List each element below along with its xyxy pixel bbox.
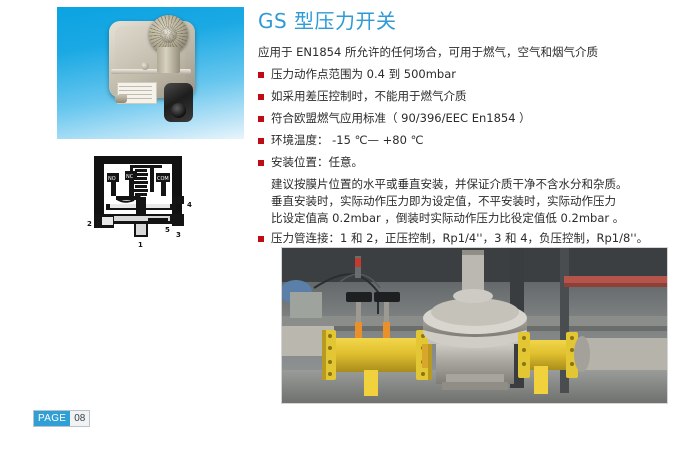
list-item: 安装位置：任意。 [258, 154, 699, 171]
page-badge-word: PAGE [34, 411, 70, 426]
electrical-connector-plug [164, 83, 193, 122]
diagram-callout-2: 2 [87, 220, 92, 228]
bullet-square-icon [258, 138, 264, 144]
list-item: 环境温度： -15 ℃— +80 ℃ [258, 132, 699, 149]
gs-pressure-switch-product-photo [57, 7, 244, 139]
list-item: 符合欧盟燃气应用标准（ 90/396/EEC En1854 ） [258, 110, 699, 127]
diagram-callout-3: 3 [176, 231, 181, 239]
mounting-note-line-1: 建议按膜片位置的水平或垂直安装，并保证介质干净不含水分和杂质。 [271, 176, 699, 193]
bullet-square-icon [258, 236, 264, 242]
list-item-label: 压力管连接：1 和 2，正压控制，Rp1/4''，3 和 4，负压控制，Rp1/… [271, 230, 648, 247]
bullet-square-icon [258, 94, 264, 100]
diagram-callout-1: 1 [138, 241, 143, 248]
terminal-label-com: COM [157, 176, 169, 182]
mounting-note-line-2: 垂直安装时，实际动作压力即为设定值，不平安装时，实际动作压力 [271, 193, 699, 210]
bullet-square-icon [258, 116, 264, 122]
list-item: 压力动作点范围为 0.4 到 500mbar [258, 66, 699, 83]
terminal-label-no: NO [108, 176, 116, 182]
gas-pipeline-installation-photo [281, 247, 668, 404]
pressure-switch-cross-section-diagram: NO NC COM [86, 152, 198, 248]
list-item-label: 如采用差压控制时，不能用于燃气介质 [271, 88, 467, 105]
diagram-callout-4: 4 [187, 201, 192, 209]
page-badge-number: 08 [70, 411, 89, 426]
left-column: NO NC COM [0, 0, 252, 455]
list-item: 如采用差压控制时，不能用于燃气介质 [258, 88, 699, 105]
feature-bullet-list: 压力动作点范围为 0.4 到 500mbar 如采用差压控制时，不能用于燃气介质… [258, 66, 699, 252]
housing-mounting-foot [115, 95, 127, 103]
list-item-label: 安装位置：任意。 [271, 154, 363, 171]
bullet-square-icon [258, 72, 264, 78]
dial-stem [157, 47, 180, 73]
right-column: GS 型压力开关 应用于 EN1854 所允许的任何场合，可用于燃气，空气和烟气… [258, 0, 699, 455]
list-item-label: 符合欧盟燃气应用标准（ 90/396/EEC En1854 ） [271, 110, 531, 127]
page-title: GS 型压力开关 [258, 8, 397, 34]
list-item-label: 环境温度： -15 ℃— +80 ℃ [271, 132, 424, 149]
list-item: 压力管连接：1 和 2，正压控制，Rp1/4''，3 和 4，负压控制，Rp1/… [258, 230, 699, 247]
bullet-square-icon [258, 160, 264, 166]
terminal-label-nc: NC [126, 174, 134, 180]
housing-screw-icon [141, 62, 149, 70]
mounting-note-paragraph: 建议按膜片位置的水平或垂直安装，并保证介质干净不含水分和杂质。 垂直安装时，实际… [271, 176, 699, 227]
list-item-label: 压力动作点范围为 0.4 到 500mbar [271, 66, 456, 83]
mounting-note-line-3: 比设定值高 0.2mbar ，倒装时实际动作压力比役定值低 0.2mbar 。 [271, 210, 699, 227]
intro-text: 应用于 EN1854 所允许的任何场合，可用于燃气，空气和烟气介质 [258, 44, 598, 61]
page-badge: PAGE 08 [33, 410, 90, 427]
diagram-callout-5: 5 [165, 226, 170, 234]
